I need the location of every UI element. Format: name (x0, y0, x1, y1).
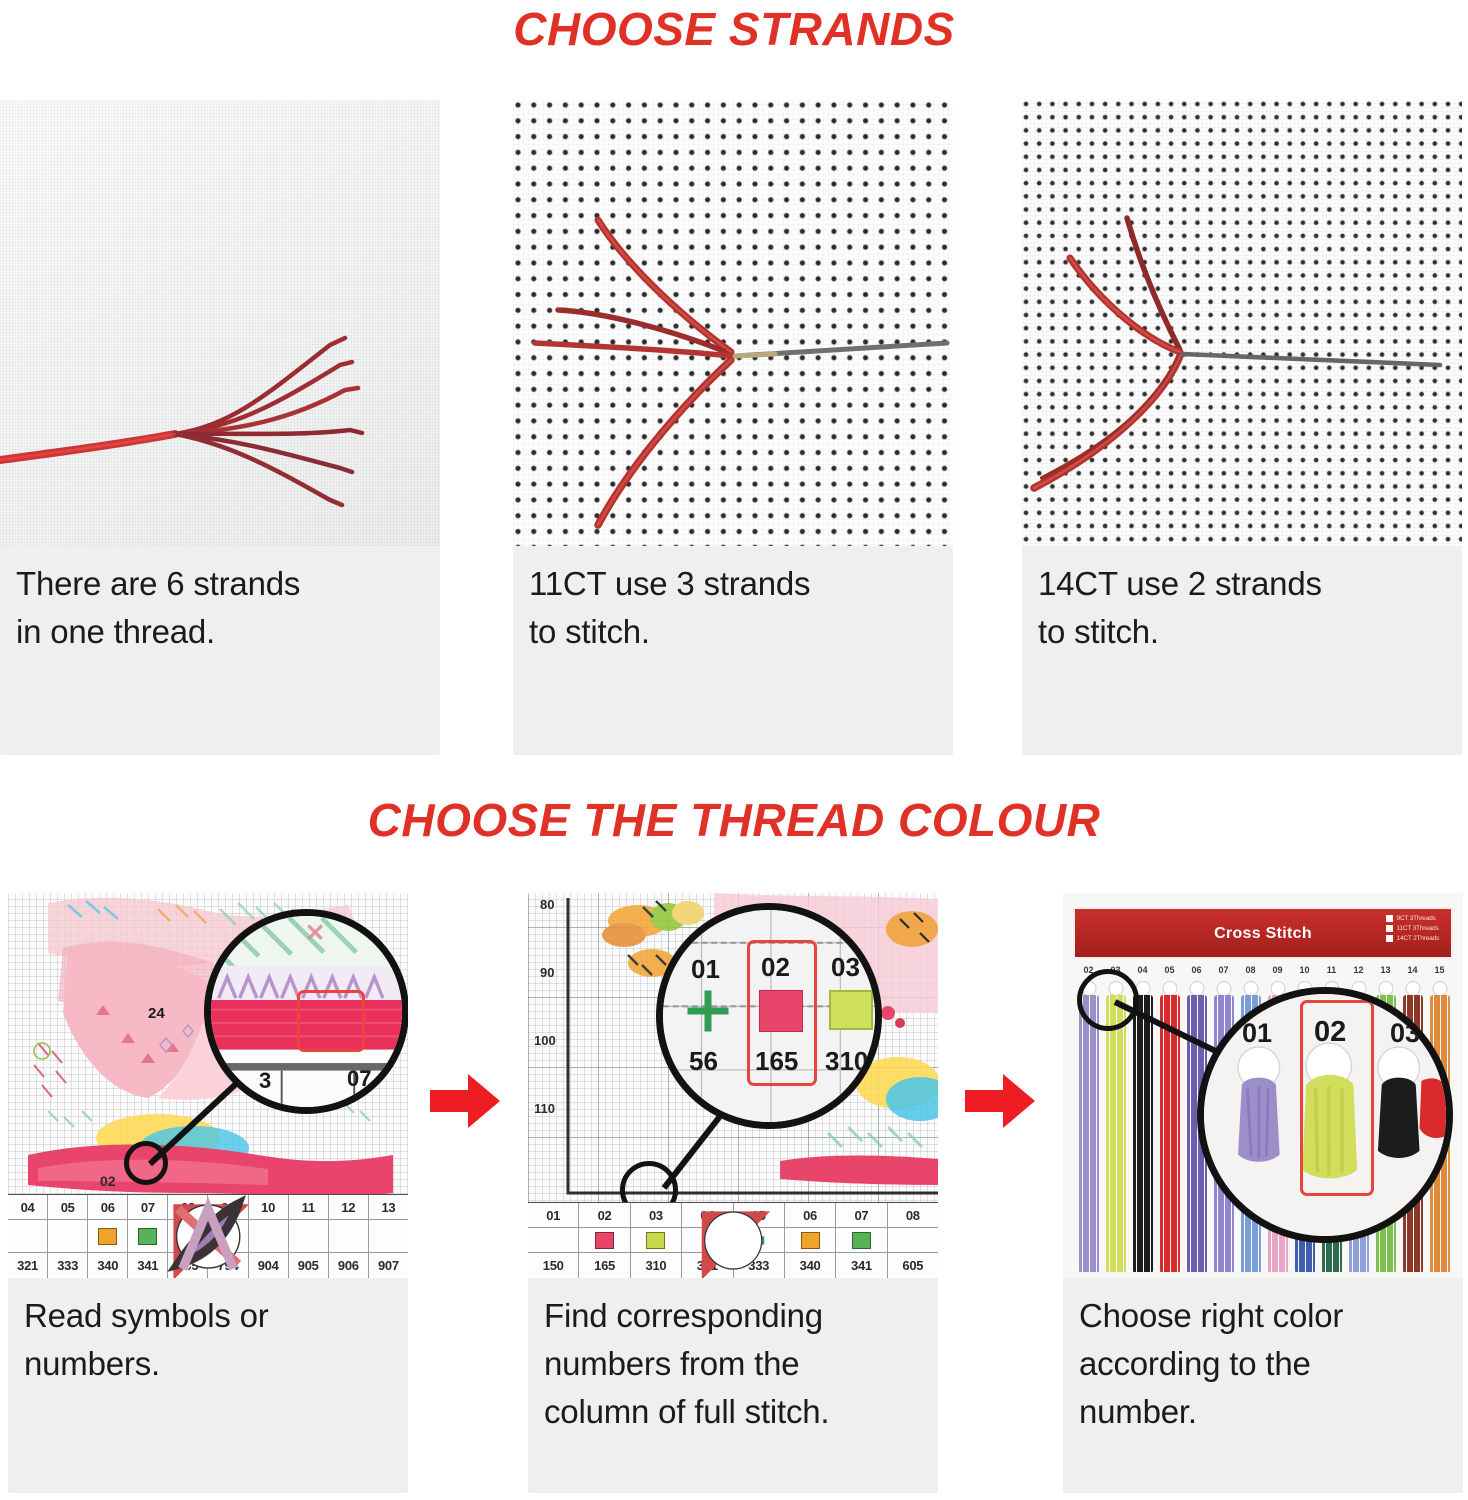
magnifier-focus-circle (1077, 969, 1139, 1031)
floss-number-label: 05 (1156, 965, 1183, 981)
needle-two-strands-illustration (1022, 100, 1462, 546)
floss-option-label: 11CT 3Threads (1397, 925, 1439, 932)
floss-option-row[interactable]: 11CT 3Threads (1386, 925, 1439, 932)
highlight-box-magnified (297, 990, 365, 1052)
skein-notch-icon (1162, 981, 1177, 996)
photo-floss-card: Cross Stitch 9CT 3Threads11CT 3Threads14… (1063, 893, 1463, 1278)
magnified-index-01: 01 (691, 954, 720, 985)
legend-row-symbols (528, 1228, 938, 1253)
caption-choose-color: Choose right color according to the numb… (1063, 1278, 1463, 1446)
skein-yarn (1106, 995, 1126, 1272)
floss-number-label: 13 (1372, 965, 1399, 981)
magnifier-zoom-circle: 01 02 03 (1197, 987, 1453, 1243)
photo-pattern-chart-numbers: 80 90 100 110 01 (528, 893, 938, 1278)
caption-line: according to the (1079, 1340, 1447, 1388)
floss-number-label: 12 (1345, 965, 1372, 981)
legend-row-symbols (8, 1220, 408, 1253)
pattern-number-24: 24 (148, 1005, 165, 1022)
caption-find-numbers: Find corresponding numbers from the colu… (528, 1278, 938, 1446)
floss-option-row[interactable]: 14CT 2Threads (1386, 935, 1439, 942)
floss-option-label: 9CT 3Threads (1397, 915, 1436, 922)
needle-three-strands-illustration (513, 100, 953, 546)
caption-line: numbers from the (544, 1340, 922, 1388)
caption-11ct: 11CT use 3 strands to stitch. (513, 546, 953, 666)
caption-read-symbols: Read symbols or numbers. (8, 1278, 408, 1398)
card-six-strands: There are 6 strands in one thread. (0, 100, 440, 755)
magnified-number-left: 3 (259, 1068, 271, 1094)
caption-line: number. (1079, 1388, 1447, 1436)
floss-number-label: 11 (1318, 965, 1345, 981)
magnified-index-03: 03 (831, 952, 860, 983)
caption-line: to stitch. (1038, 608, 1446, 656)
floss-number-label: 07 (1210, 965, 1237, 981)
highlight-box-magnified (1300, 1000, 1374, 1196)
arrow-right-icon-1 (428, 1070, 502, 1132)
magnified-code-56: 56 (689, 1046, 718, 1077)
magnified-symbol-swatch-310 (829, 990, 873, 1030)
checkbox-icon[interactable] (1386, 915, 1393, 922)
photo-pattern-chart: 24 02 (8, 893, 408, 1278)
photo-six-strands (0, 100, 440, 546)
caption-six-strands: There are 6 strands in one thread. (0, 546, 440, 666)
legend-symbol-circle-icon (528, 1203, 938, 1278)
floss-number-row: 0203040506070809101112131415 (1075, 965, 1453, 981)
floss-number-label: 06 (1183, 965, 1210, 981)
caption-14ct: 14CT use 2 strands to stitch. (1022, 546, 1462, 666)
card-11ct-three-strands: 11CT use 3 strands to stitch. (513, 100, 953, 755)
magnifier-zoom-circle: 3 07 (204, 909, 408, 1114)
caption-line: in one thread. (16, 608, 424, 656)
page-title-choose-strands: CHOOSE STRANDS (0, 2, 1468, 56)
axis-label-90: 90 (540, 965, 554, 980)
magnifier-zoom-circle: 01 02 03 56 165 310 (656, 903, 882, 1129)
floss-option-label: 14CT 2Threads (1397, 935, 1439, 942)
floss-card-banner: Cross Stitch 9CT 3Threads11CT 3Threads14… (1073, 907, 1453, 959)
caption-line: Choose right color (1079, 1292, 1447, 1340)
pattern-number-02: 02 (100, 1173, 116, 1189)
page-title-choose-thread-colour: CHOOSE THE THREAD COLOUR (0, 793, 1468, 847)
legend-symbol-arrow-icon (8, 1195, 408, 1278)
caption-line: There are 6 strands (16, 560, 424, 608)
floss-number-label: 09 (1264, 965, 1291, 981)
axis-label-80: 80 (540, 897, 554, 912)
floss-skein (1129, 981, 1156, 1272)
legend-cell-symbol (369, 1220, 408, 1253)
caption-line: 14CT use 2 strands (1038, 560, 1446, 608)
floss-option-row[interactable]: 9CT 3Threads (1386, 915, 1439, 922)
floss-number-label: 10 (1291, 965, 1318, 981)
card-read-symbols: 24 02 (8, 893, 408, 1493)
arrow-right-icon-2 (963, 1070, 1037, 1132)
legend-cell-symbol (888, 1228, 938, 1253)
thread-six-strands-illustration (0, 100, 440, 546)
colour-legend-table: 0102030405060708 15016531032133334034160… (528, 1202, 938, 1278)
card-find-numbers: 80 90 100 110 01 (528, 893, 938, 1493)
skein-yarn (1079, 995, 1099, 1272)
magnified-number-right: 07 (347, 1066, 371, 1092)
caption-line: column of full stitch. (544, 1388, 922, 1436)
caption-line: 11CT use 3 strands (529, 560, 937, 608)
floss-card-options: 9CT 3Threads11CT 3Threads14CT 2Threads (1386, 915, 1439, 945)
caption-line: to stitch. (529, 608, 937, 656)
card-14ct-two-strands: 14CT use 2 strands to stitch. (1022, 100, 1462, 755)
axis-label-100: 100 (534, 1033, 556, 1048)
checkbox-icon[interactable] (1386, 925, 1393, 932)
magnifier-focus-circle (124, 1141, 168, 1185)
caption-line: numbers. (24, 1340, 392, 1388)
floss-number-label: 08 (1237, 965, 1264, 981)
caption-line: Find corresponding (544, 1292, 922, 1340)
checkbox-icon[interactable] (1386, 935, 1393, 942)
infographic-page: CHOOSE STRANDS There are 6 strands in o (0, 0, 1468, 1500)
magnified-symbol-plus-icon (685, 988, 731, 1034)
skein-notch-icon (1189, 981, 1204, 996)
axis-label-110: 110 (534, 1101, 555, 1116)
symbol-legend-table: 04050607080910111213 3213333403416057949… (8, 1194, 408, 1278)
skein-yarn (1160, 995, 1180, 1272)
skein-yarn (1133, 995, 1153, 1272)
photo-11ct (513, 100, 953, 546)
floss-number-label: 14 (1399, 965, 1426, 981)
floss-number-label: 04 (1129, 965, 1156, 981)
card-choose-color: Cross Stitch 9CT 3Threads11CT 3Threads14… (1063, 893, 1463, 1493)
photo-14ct (1022, 100, 1462, 546)
highlight-box-magnified (747, 940, 817, 1086)
caption-line: Read symbols or (24, 1292, 392, 1340)
floss-number-label: 15 (1426, 965, 1453, 981)
magnified-code-310: 310 (825, 1046, 868, 1077)
